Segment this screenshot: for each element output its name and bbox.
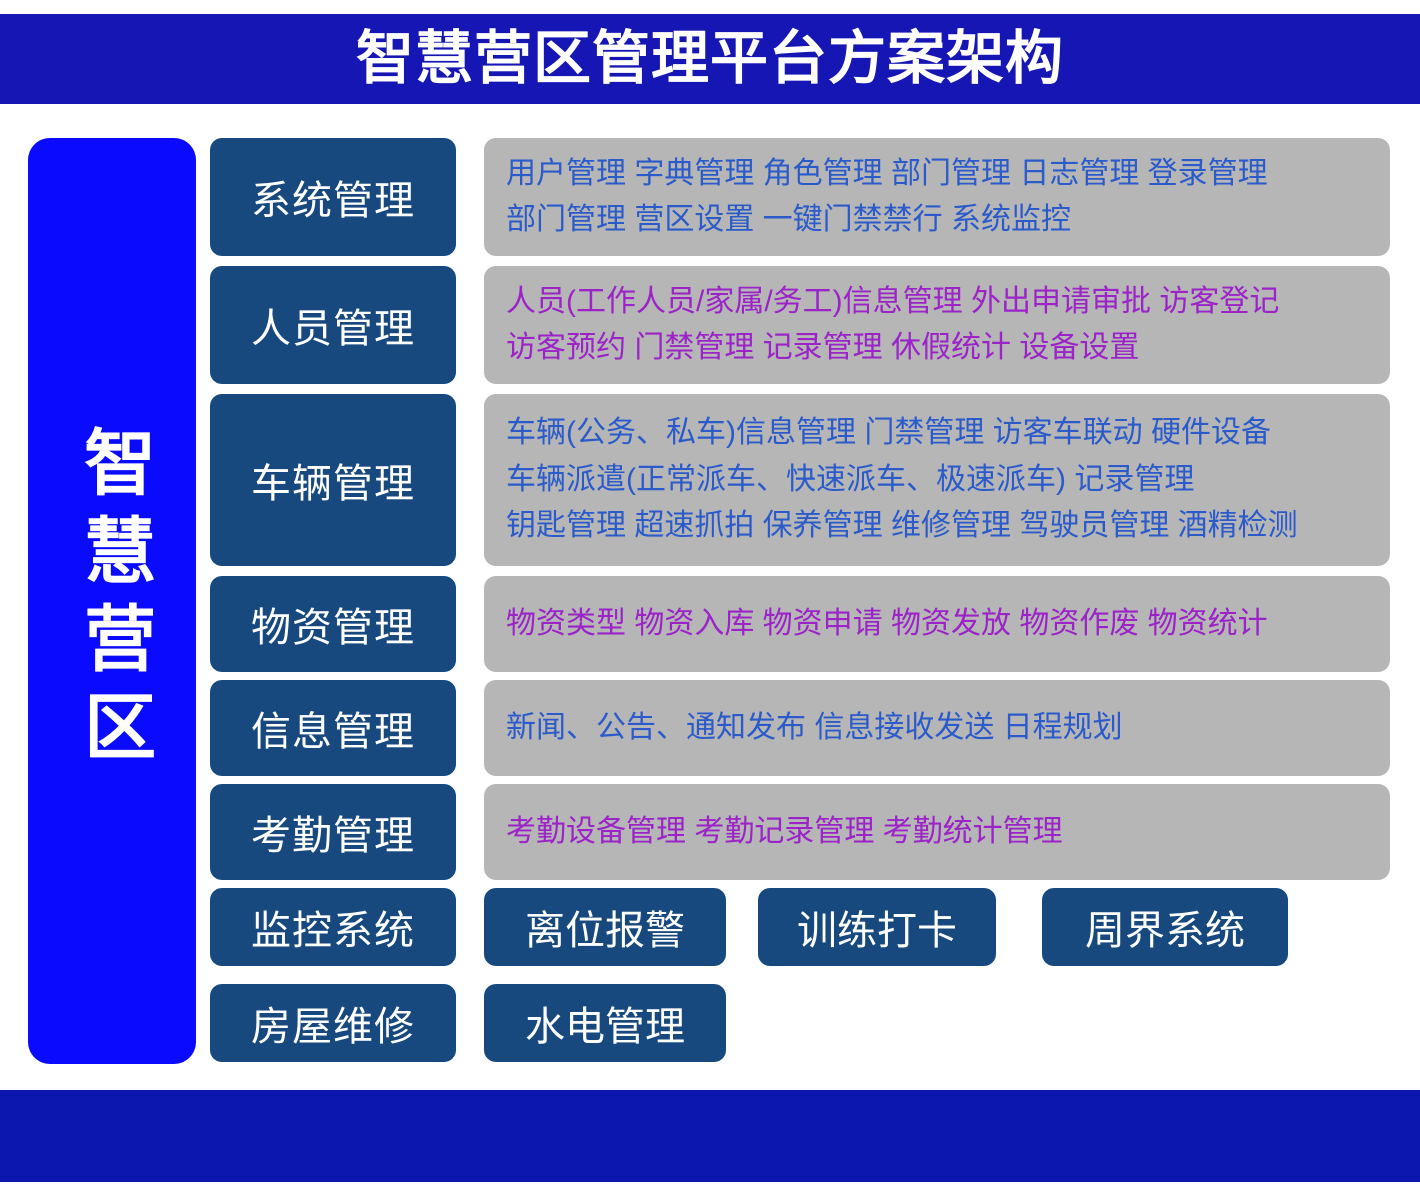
brand-rail: 智慧营区 — [28, 138, 196, 1064]
feature-button-leave-alarm[interactable]: 离位报警 — [484, 888, 726, 966]
detail-panel-attendance: 考勤设备管理 考勤记录管理 考勤统计管理 — [484, 784, 1390, 880]
module-row-personnel: 人员管理 人员(工作人员/家属/务工)信息管理 外出申请审批 访客登记 访客预约… — [210, 266, 1390, 384]
feature-button-utility-management[interactable]: 水电管理 — [484, 984, 726, 1062]
detail-panel-vehicle: 车辆(公务、私车)信息管理 门禁管理 访客车联动 硬件设备 车辆派遣(正常派车、… — [484, 394, 1390, 566]
module-button-monitoring[interactable]: 监控系统 — [210, 888, 456, 966]
detail-line: 钥匙管理 超速抓拍 保养管理 维修管理 驾驶员管理 酒精检测 — [506, 503, 1368, 550]
detail-line: 新闻、公告、通知发布 信息接收发送 日程规划 — [506, 705, 1368, 752]
detail-panel-material: 物资类型 物资入库 物资申请 物资发放 物资作废 物资统计 — [484, 576, 1390, 672]
detail-line: 车辆派遣(正常派车、快速派车、极速派车) 记录管理 — [506, 457, 1368, 504]
module-button-personnel[interactable]: 人员管理 — [210, 266, 456, 384]
detail-line: 考勤设备管理 考勤记录管理 考勤统计管理 — [506, 809, 1368, 856]
detail-line: 访客预约 门禁管理 记录管理 休假统计 设备设置 — [506, 325, 1368, 372]
detail-panel-system: 用户管理 字典管理 角色管理 部门管理 日志管理 登录管理 部门管理 营区设置 … — [484, 138, 1390, 256]
feature-button-training-checkin[interactable]: 训练打卡 — [758, 888, 996, 966]
detail-line: 物资类型 物资入库 物资申请 物资发放 物资作废 物资统计 — [506, 601, 1368, 648]
detail-panel-information: 新闻、公告、通知发布 信息接收发送 日程规划 — [484, 680, 1390, 776]
module-row-attendance: 考勤管理 考勤设备管理 考勤记录管理 考勤统计管理 — [210, 784, 1390, 880]
bottom-bar — [0, 1090, 1420, 1182]
brand-label: 智慧营区 — [62, 425, 161, 777]
detail-line: 用户管理 字典管理 角色管理 部门管理 日志管理 登录管理 — [506, 151, 1368, 198]
module-button-vehicle[interactable]: 车辆管理 — [210, 394, 456, 566]
page-title: 智慧营区管理平台方案架构 — [356, 30, 1064, 88]
feature-button-perimeter-system[interactable]: 周界系统 — [1042, 888, 1288, 966]
module-row-system: 系统管理 用户管理 字典管理 角色管理 部门管理 日志管理 登录管理 部门管理 … — [210, 138, 1390, 256]
module-row-vehicle: 车辆管理 车辆(公务、私车)信息管理 门禁管理 访客车联动 硬件设备 车辆派遣(… — [210, 394, 1390, 566]
page-title-bar: 智慧营区管理平台方案架构 — [0, 14, 1420, 104]
module-row-information: 信息管理 新闻、公告、通知发布 信息接收发送 日程规划 — [210, 680, 1390, 776]
module-button-housing-repair[interactable]: 房屋维修 — [210, 984, 456, 1062]
detail-line: 车辆(公务、私车)信息管理 门禁管理 访客车联动 硬件设备 — [506, 410, 1368, 457]
module-button-material[interactable]: 物资管理 — [210, 576, 456, 672]
architecture-board: 系统管理 用户管理 字典管理 角色管理 部门管理 日志管理 登录管理 部门管理 … — [210, 138, 1390, 1068]
detail-line: 人员(工作人员/家属/务工)信息管理 外出申请审批 访客登记 — [506, 279, 1368, 326]
module-button-attendance[interactable]: 考勤管理 — [210, 784, 456, 880]
module-row-monitoring: 监控系统 离位报警 训练打卡 周界系统 — [210, 888, 1390, 966]
module-button-information[interactable]: 信息管理 — [210, 680, 456, 776]
detail-line: 部门管理 营区设置 一键门禁禁行 系统监控 — [506, 197, 1368, 244]
module-row-material: 物资管理 物资类型 物资入库 物资申请 物资发放 物资作废 物资统计 — [210, 576, 1390, 672]
detail-panel-personnel: 人员(工作人员/家属/务工)信息管理 外出申请审批 访客登记 访客预约 门禁管理… — [484, 266, 1390, 384]
module-button-system[interactable]: 系统管理 — [210, 138, 456, 256]
module-row-housing-repair: 房屋维修 水电管理 — [210, 984, 1390, 1062]
